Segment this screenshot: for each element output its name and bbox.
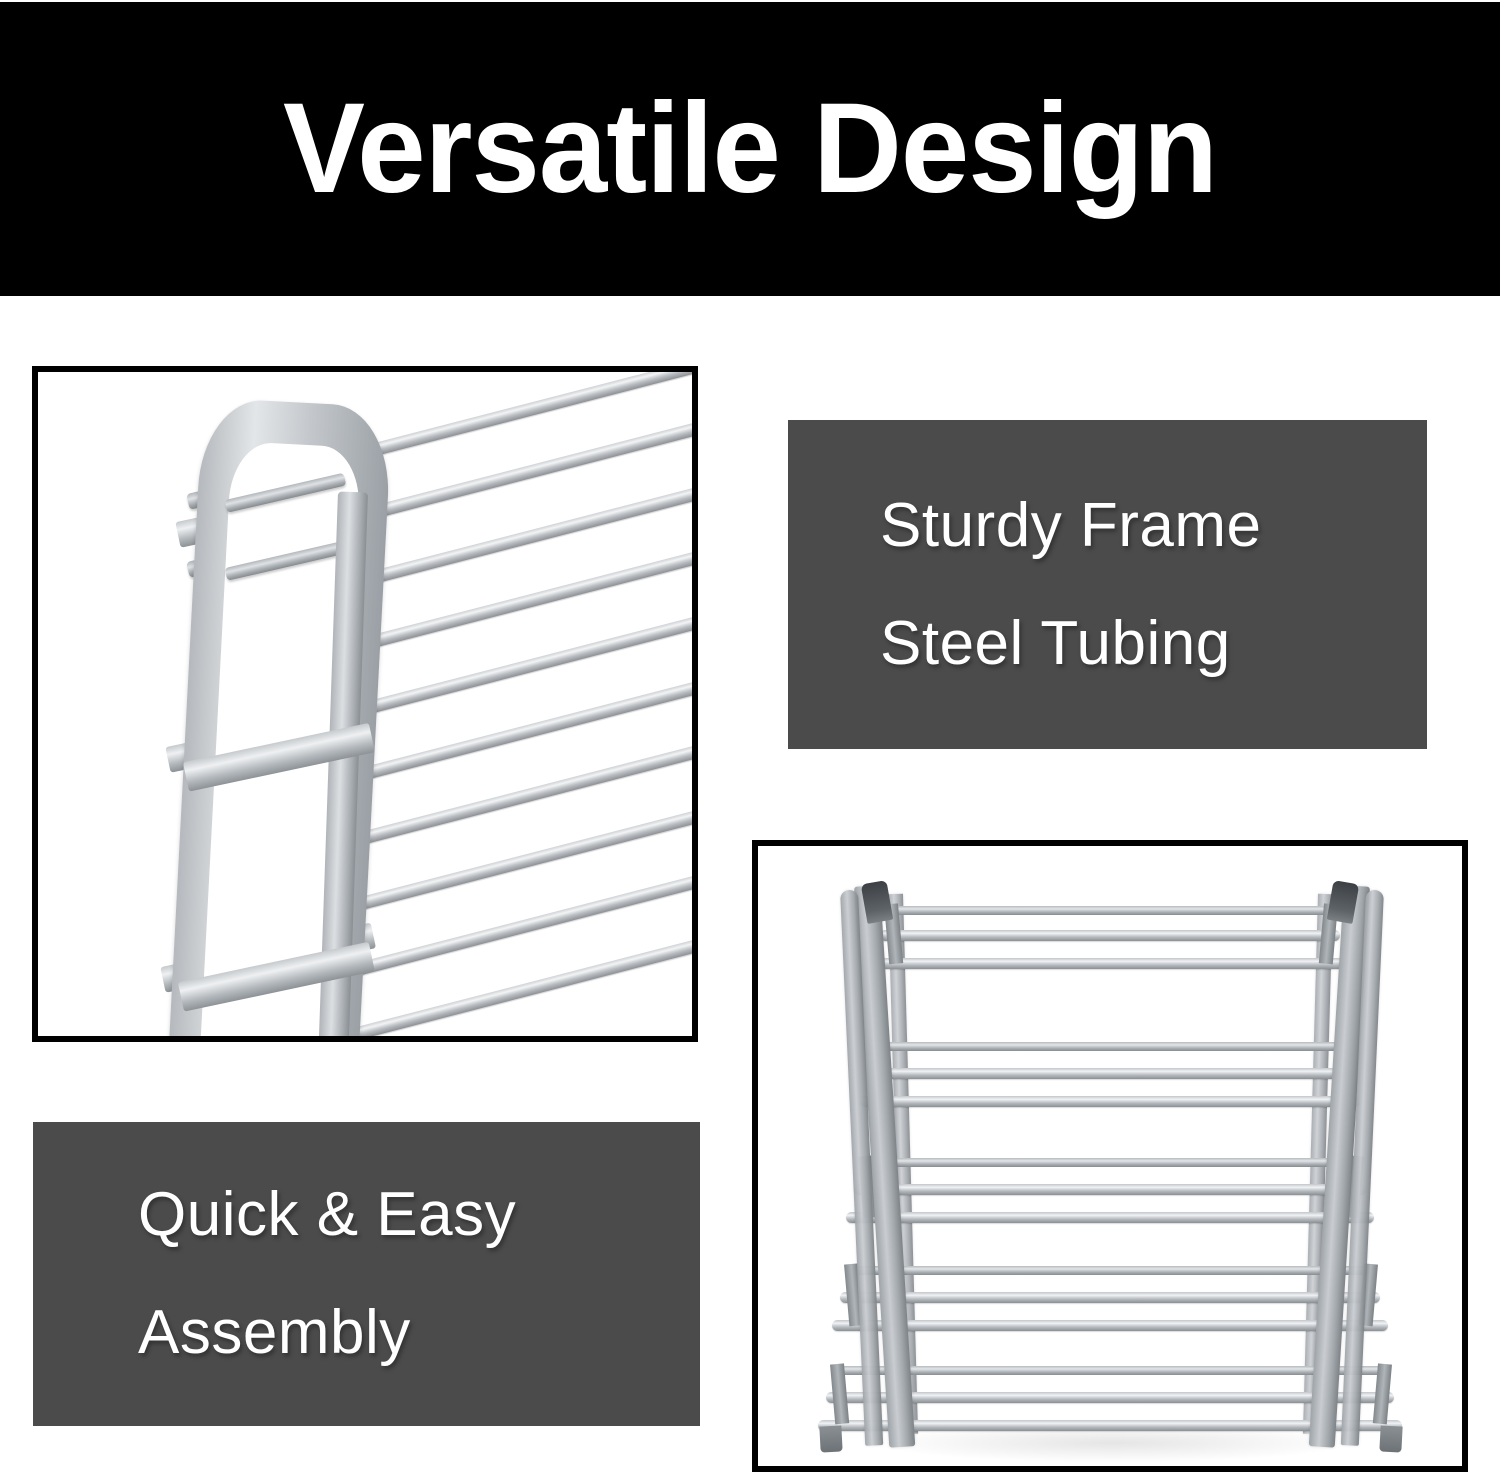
- product-photo: [758, 846, 1462, 1466]
- sturdy-frame-line-2: Steel Tubing: [880, 585, 1427, 703]
- assembly-line-2: Assembly: [138, 1274, 700, 1392]
- rack-bar: [854, 1184, 1366, 1195]
- rack-bar: [840, 1292, 1380, 1303]
- product-feature-page: Versatile Design: [0, 0, 1500, 1479]
- rack-bar: [862, 1158, 1358, 1167]
- rack-bar: [876, 1042, 1344, 1051]
- rack-closeup-illustration: [38, 372, 692, 1036]
- rack-foot-right: [1379, 1425, 1402, 1452]
- closeup-photo: [38, 372, 692, 1036]
- rack-bar: [834, 1366, 1386, 1375]
- rack-top-cap-left: [861, 880, 894, 924]
- product-photo-frame: [752, 840, 1468, 1472]
- rack-bar: [846, 1212, 1374, 1223]
- assembly-caption-box: Quick & Easy Assembly: [33, 1122, 700, 1426]
- sturdy-frame-caption-box: Sturdy Frame Steel Tubing: [788, 420, 1427, 749]
- assembly-line-1: Quick & Easy: [138, 1156, 700, 1274]
- rack-bar: [860, 1096, 1360, 1107]
- rack-bar: [890, 906, 1330, 915]
- closeup-photo-frame: [32, 366, 698, 1042]
- header-banner: Versatile Design: [0, 2, 1500, 296]
- rack-bar: [832, 1320, 1388, 1331]
- rack-bar: [868, 1068, 1352, 1079]
- sturdy-frame-line-1: Sturdy Frame: [880, 467, 1427, 585]
- page-title: Versatile Design: [30, 2, 1470, 296]
- rack-bar: [870, 958, 1350, 969]
- shoe-rack-illustration: [758, 846, 1462, 1466]
- rack-bar: [848, 1266, 1372, 1275]
- rack-bar-diagonal: [336, 922, 692, 1036]
- rack-foot-left: [819, 1425, 842, 1452]
- rack-bar: [880, 930, 1340, 941]
